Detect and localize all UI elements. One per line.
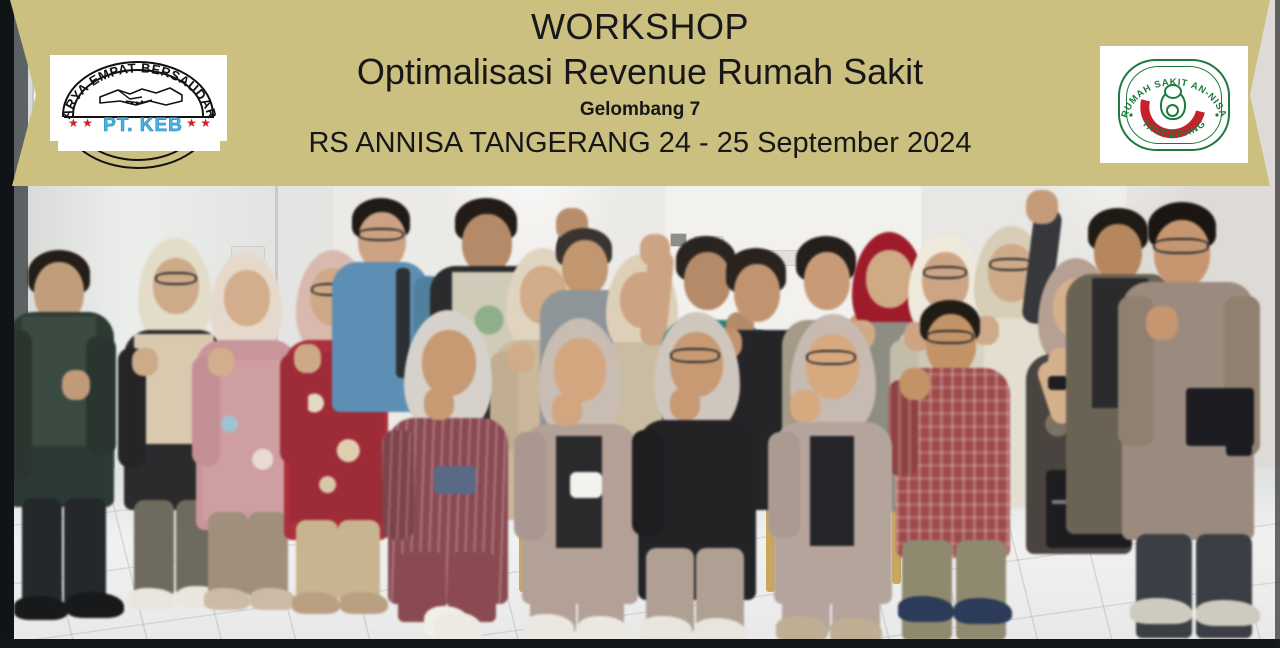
eyeglasses [1153,238,1209,254]
title-venue-date: RS ANNISA TANGERANG 24 - 25 September 20… [240,125,1040,161]
pt-keb-logo: KARYA EMPAT BERSAUDARA ★ ★ ★ ★ PT. KEB [50,55,227,141]
svg-text:KARYA EMPAT BERSAUDARA: KARYA EMPAT BERSAUDARA [50,55,220,121]
keb-stars-right: ★ ★ [186,116,211,130]
photo-bottom-border [0,639,1280,648]
wristwatch [1048,376,1068,390]
keb-stars-left: ★ ★ [68,116,93,130]
tissue-in-hand [570,472,602,498]
eyeglasses [806,350,856,365]
eyeglasses [155,272,197,285]
phone-in-hand [1186,388,1254,446]
title-wave: Gelombang 7 [240,98,1040,122]
phone-in-lap [434,466,476,494]
workshop-banner-page: KARYA EMPAT BERSAUDARA ★ ★ ★ ★ PT. KEB [0,0,1280,648]
annisa-arc-text: RUMAH SAKIT AN-NISA TANGERANG [1118,59,1230,151]
banner-titles: WORKSHOP Optimalisasi Revenue Rumah Saki… [240,6,1040,161]
keb-wordmark: PT. KEB [98,115,188,137]
svg-text:TANGERANG: TANGERANG [1139,118,1208,140]
rs-annisa-logo: RUMAH SAKIT AN-NISA TANGERANG [1100,46,1248,163]
photo-left-border [0,0,14,648]
keb-arc-label: KARYA EMPAT BERSAUDARA [50,55,220,121]
photo-right-border [1275,0,1280,648]
annisa-top-label: RUMAH SAKIT AN-NISA [1119,77,1228,119]
title-workshop: WORKSHOP [240,6,1040,48]
title-subject: Optimalisasi Revenue Rumah Sakit [240,50,1040,94]
svg-text:RUMAH SAKIT AN-NISA: RUMAH SAKIT AN-NISA [1119,77,1228,119]
eyeglasses [923,266,967,279]
annisa-bottom-label: TANGERANG [1139,118,1208,140]
title-banner: KARYA EMPAT BERSAUDARA ★ ★ ★ ★ PT. KEB [0,0,1280,186]
eyeglasses [670,348,720,363]
eyeglasses [926,330,974,344]
eyeglasses [989,258,1033,271]
eyeglasses [358,228,404,241]
